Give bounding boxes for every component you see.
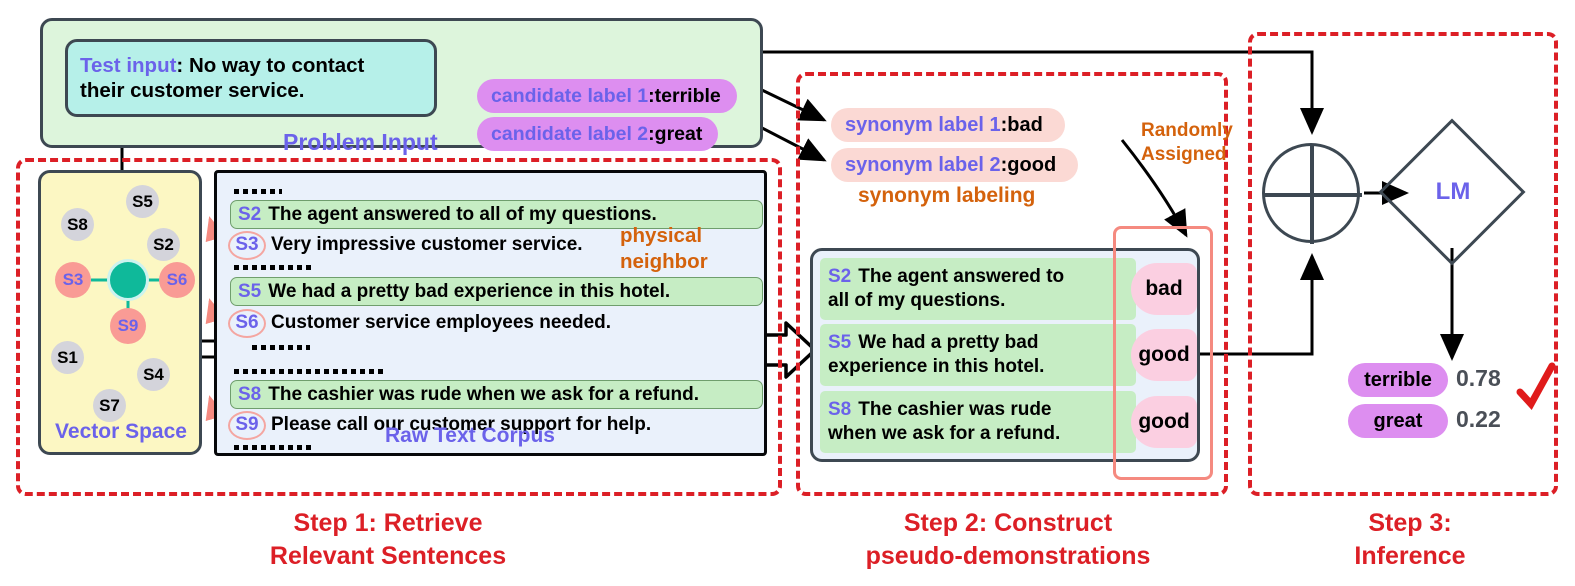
candidate-label-1-name: candidate label 1 <box>491 85 648 108</box>
lm-label: LM <box>1424 178 1482 206</box>
physical-neighbor-line1: physical <box>620 224 702 247</box>
corpus-sentence-s3: S3 Very impressive customer service. <box>228 232 583 258</box>
synonym-labeling-caption: synonym labeling <box>858 184 1035 208</box>
pseudo-demo-row-2-id: S5 <box>828 332 851 353</box>
test-input-separator: : <box>176 54 189 77</box>
test-input-box: Test input: No way to contact their cust… <box>65 39 437 117</box>
vector-node-s6: S6 <box>159 262 195 298</box>
pseudo-demo-row-2-text: S5We had a pretty bad experience in this… <box>828 331 1044 378</box>
candidate-label-1-chip: candidate label 1: terrible <box>477 79 737 113</box>
step-2-caption-line1: Step 2: Construct <box>904 509 1112 537</box>
corpus-ellipsis-3 <box>252 345 310 350</box>
raw-text-corpus-title: Raw Text Corpus <box>385 424 555 448</box>
randomly-assigned-line1: Randomly <box>1141 120 1233 141</box>
corpus-ellipsis-4 <box>234 369 384 374</box>
randomly-assigned-line2: Assigned <box>1141 144 1227 165</box>
corpus-sentence-s5-text: We had a pretty bad experience in this h… <box>268 281 670 303</box>
corpus-ellipsis-5 <box>234 445 314 450</box>
step-2-caption-line2: pseudo-demonstrations <box>866 542 1151 570</box>
corpus-sentence-s3-text: Very impressive customer service. <box>271 234 583 256</box>
vector-node-s1: S1 <box>51 341 84 374</box>
physical-neighbor-annotation: physical neighbor <box>620 223 760 275</box>
corpus-sentence-s8-text: The cashier was rude when we ask for a r… <box>268 384 699 406</box>
corpus-sentence-s8-id: S8 <box>238 384 261 406</box>
corpus-sentence-s3-id: S3 <box>228 231 266 260</box>
corpus-ellipsis-1 <box>234 189 282 194</box>
step-3-caption-line1: Step 3: <box>1368 509 1451 537</box>
vector-node-s7: S7 <box>93 389 126 422</box>
vector-node-s4: S4 <box>137 358 170 391</box>
corpus-sentence-s9-id: S9 <box>228 411 266 440</box>
step-3-caption-line2: Inference <box>1354 542 1465 570</box>
step-1-caption: Step 1: Retrieve Relevant Sentences <box>178 507 598 573</box>
prediction-chip-great: great <box>1348 404 1448 438</box>
pseudo-demo-row-1: S2The agent answered to all of my questi… <box>820 258 1136 320</box>
corpus-sentence-s5-id: S5 <box>238 281 261 303</box>
pseudo-demo-row-2: S5We had a pretty bad experience in this… <box>820 324 1136 386</box>
prediction-score-great: 0.22 <box>1456 406 1501 433</box>
synonym-label-2-chip: synonym label 2: good <box>831 148 1078 182</box>
pseudo-demo-row-2-line1: We had a pretty bad <box>858 332 1038 353</box>
step-2-caption: Step 2: Construct pseudo-demonstrations <box>808 507 1208 573</box>
pseudo-demo-row-1-line2: all of my questions. <box>828 290 1005 311</box>
corpus-sentence-s8: S8 The cashier was rude when we ask for … <box>230 380 763 409</box>
candidate-label-2-value: great <box>655 123 703 146</box>
assigned-labels-outline <box>1113 226 1213 480</box>
test-input-label: Test input <box>80 54 176 77</box>
plus-combiner-icon <box>1262 143 1360 243</box>
prediction-score-terrible: 0.78 <box>1456 365 1501 392</box>
corpus-sentence-s2-id: S2 <box>238 204 261 226</box>
physical-neighbor-line2: neighbor <box>620 250 708 273</box>
problem-input-title: Problem Input <box>283 129 438 156</box>
synonym-label-1-value: bad <box>1007 114 1043 137</box>
synonym-label-2-name: synonym label 2 <box>845 154 1001 177</box>
corpus-sentence-s6-id: S6 <box>228 309 266 338</box>
synonym-label-2-value: good <box>1007 154 1056 177</box>
corpus-sentence-s6: S6 Customer service employees needed. <box>228 310 611 336</box>
pseudo-demo-row-3: S8The cashier was rude when we ask for a… <box>820 391 1136 453</box>
step-1-caption-line2: Relevant Sentences <box>270 542 506 570</box>
synonym-label-2-separator: : <box>1001 154 1008 177</box>
problem-input-panel: Test input: No way to contact their cust… <box>40 18 763 148</box>
synonym-label-1-separator: : <box>1001 114 1008 137</box>
candidate-label-2-name: candidate label 2 <box>491 123 648 146</box>
pseudo-demo-row-3-line2: when we ask for a refund. <box>828 423 1060 444</box>
synonym-label-1-name: synonym label 1 <box>845 114 1001 137</box>
pseudo-demo-row-1-id: S2 <box>828 266 851 287</box>
pseudo-demo-row-3-line1: The cashier was rude <box>858 399 1051 420</box>
vector-space-title: Vector Space <box>40 420 202 444</box>
corpus-sentence-s6-text: Customer service employees needed. <box>271 312 611 334</box>
corpus-sentence-s2-text: The agent answered to all of my question… <box>268 204 657 226</box>
vector-node-query-center <box>107 259 149 301</box>
candidate-label-2-chip: candidate label 2: great <box>477 117 718 151</box>
step-1-caption-line1: Step 1: Retrieve <box>294 509 483 537</box>
pseudo-demo-row-3-id: S8 <box>828 399 851 420</box>
vector-space-panel: S5 S8 S2 S3 S6 S9 S1 S4 S7 <box>38 170 202 455</box>
synonym-label-1-chip: synonym label 1: bad <box>831 108 1065 142</box>
raw-text-corpus-panel: S2 The agent answered to all of my quest… <box>214 170 767 456</box>
step-3-caption: Step 3: Inference <box>1300 507 1520 573</box>
diagram-canvas: Test input: No way to contact their cust… <box>0 0 1575 586</box>
corpus-sentence-s5: S5 We had a pretty bad experience in thi… <box>230 277 763 306</box>
corpus-ellipsis-2 <box>234 265 312 270</box>
pseudo-demo-row-1-text: S2The agent answered to all of my questi… <box>828 265 1064 312</box>
pseudo-demo-row-1-line1: The agent answered to <box>858 266 1064 287</box>
test-input-value-line1: No way to contact <box>189 54 364 77</box>
test-input-text: Test input: No way to contact their cust… <box>80 53 364 103</box>
vector-node-s9: S9 <box>110 308 146 344</box>
prediction-chip-terrible: terrible <box>1348 363 1448 397</box>
vector-node-s3: S3 <box>55 262 91 298</box>
randomly-assigned-annotation: Randomly Assigned <box>1141 119 1245 167</box>
candidate-label-1-value: terrible <box>655 85 721 108</box>
pseudo-demo-row-3-text: S8The cashier was rude when we ask for a… <box>828 398 1060 445</box>
pseudo-demo-row-2-line2: experience in this hotel. <box>828 356 1044 377</box>
test-input-value-line2: their customer service. <box>80 79 304 102</box>
